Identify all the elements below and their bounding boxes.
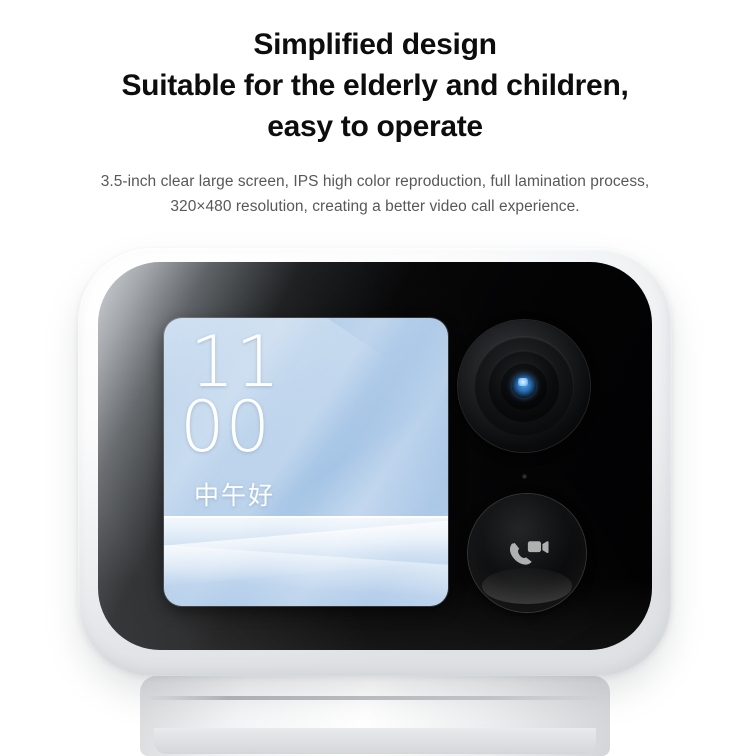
device-screen[interactable]: 11 00 中午好 [164, 318, 448, 606]
subtitle-description: 3.5-inch clear large screen, IPS high co… [55, 169, 695, 219]
video-call-button[interactable] [468, 494, 586, 612]
camera-glint [518, 378, 528, 386]
camera-lens [458, 320, 590, 452]
device-stand-base [140, 676, 610, 756]
headline-line-2: Suitable for the elderly and children, [0, 65, 750, 106]
marketing-text-block: Simplified design Suitable for the elder… [0, 0, 750, 220]
device-front-glass: 11 00 中午好 [98, 262, 652, 650]
subtitle-line-2: 320×480 resolution, creating a better vi… [55, 194, 695, 219]
subtitle-line-1: 3.5-inch clear large screen, IPS high co… [55, 169, 695, 194]
headline-line-3: easy to operate [0, 106, 750, 147]
headline-line-1: Simplified design [0, 24, 750, 65]
page-title: Simplified design Suitable for the elder… [0, 24, 750, 147]
microphone-hole [522, 474, 527, 479]
clock-widget: 11 00 [190, 330, 281, 460]
product-image: 11 00 中午好 [0, 236, 750, 750]
video-call-icon [499, 525, 555, 581]
greeting-text: 中午好 [194, 476, 275, 512]
clock-minutes: 00 [180, 395, 281, 460]
wallpaper-band-edge [164, 516, 448, 518]
